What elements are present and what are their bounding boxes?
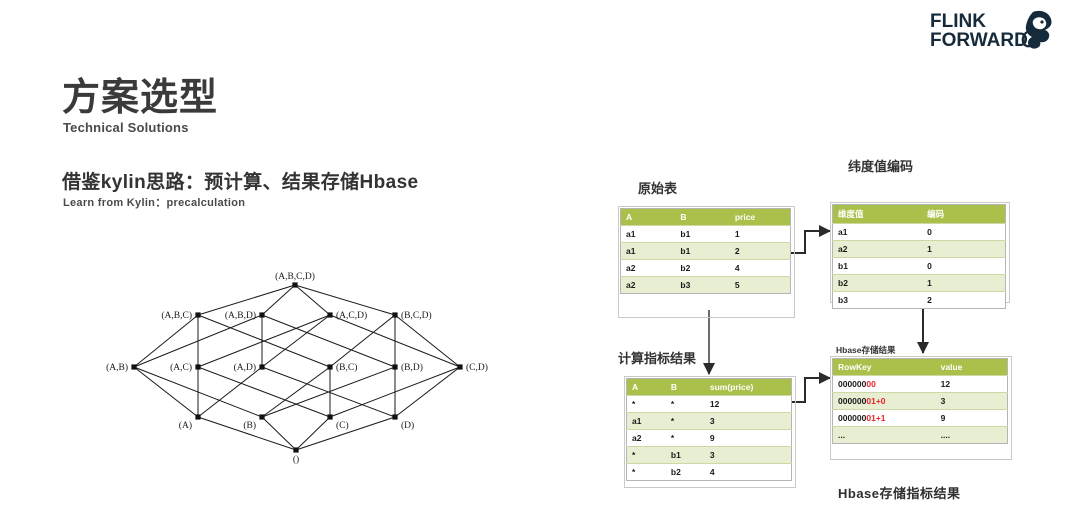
table-cell: 12 [936,376,1008,393]
table-row: 00000001+03 [833,393,1008,410]
logo-line1: FLINK [930,11,986,32]
section-title: 借鉴kylin思路：预计算、结果存储Hbase [62,167,419,194]
lattice-node [131,364,136,369]
table-row: a2b24 [621,260,791,277]
table-cell: a2 [621,277,676,294]
table-cell: 12 [705,396,792,413]
source-table-label: 原始表 [638,178,677,197]
table-row: a2*9 [627,430,792,447]
table-cell: a1 [621,226,676,243]
table-row: **12 [627,396,792,413]
column-header: B [666,379,705,396]
lattice-node-label: (C) [336,420,349,431]
flink-forward-logo: FLINK FORWARD [930,8,1062,54]
logo-line2: FORWARD [930,30,1028,51]
lattice-edge [330,315,395,367]
lattice-node-label: (A,B,C) [161,310,192,321]
table-cell: 4 [705,464,792,481]
section-subtitle: Learn from Kylin：precalculation [63,194,245,210]
table-cell: a1 [833,224,923,241]
lattice-node [259,364,264,369]
lattice-node [327,312,332,317]
column-header: sum(price) [705,379,792,396]
lattice-node [457,364,462,369]
table-cell: b2 [675,260,729,277]
table-cell: b2 [666,464,705,481]
lattice-node-label: (A,B) [106,362,128,373]
table-cell: b3 [833,292,923,309]
column-header: RowKey [833,359,936,376]
table-row: b32 [833,292,1006,309]
lattice-node [327,364,332,369]
lattice-node-label: (A,D) [234,362,256,373]
lattice-edge [198,367,330,417]
table-row: *b24 [627,464,792,481]
table-cell: a2 [833,241,923,258]
lattice-node [259,414,264,419]
lattice-node-label: (C,D) [466,362,488,373]
page-title: 方案选型 [62,66,218,121]
lattice-node [195,364,200,369]
column-header: price [730,209,791,226]
table-cell: ... [833,427,936,444]
lattice-node [195,414,200,419]
table-cell: a1 [627,413,666,430]
hbase-table-label: Hbase存储结果 [836,344,896,356]
table-row: a1*3 [627,413,792,430]
lattice-node-label: (B) [243,420,256,431]
table-cell: 1 [922,275,1005,292]
table-cell: 0 [922,258,1005,275]
lattice-edge [296,417,330,450]
table-cell: 2 [922,292,1005,309]
lattice-edge [395,367,460,417]
table-cell: 0 [922,224,1005,241]
lattice-edge [198,367,262,417]
hbase-table: RowKeyvalue000000001200000001+0300000001… [832,358,1008,444]
table-cell: 00000001+0 [833,393,936,410]
table-cell: 2 [730,243,791,260]
table-cell: b1 [675,226,729,243]
table-cell: * [666,396,705,413]
lattice-node [293,447,298,452]
lattice-node-label: (A,B,D) [225,310,256,321]
table-cell: * [666,430,705,447]
lattice-node [292,282,297,287]
table-cell: 5 [730,277,791,294]
column-header: A [627,379,666,396]
table-row: ....... [833,427,1008,444]
lattice-node [327,414,332,419]
lattice-node [392,364,397,369]
table-cell: b1 [675,243,729,260]
precalculation-flow-diagram: 原始表 ABpricea1b11a1b12a2b24a2b35 纬度值编码 维度… [600,148,1040,513]
table-row: 0000000012 [833,376,1008,393]
lattice-node-label: () [293,454,299,465]
cuboid-lattice-diagram: (A,B,C,D)(A,B,C)(A,B,D)(A,C,D)(B,C,D)(A,… [90,258,490,473]
lattice-edge [134,367,198,417]
table-cell: 1 [730,226,791,243]
lattice-node-label: (A) [179,420,192,431]
table-row: b10 [833,258,1006,275]
table-cell: 3 [705,413,792,430]
table-cell: * [666,413,705,430]
encoding-table-label: 纬度值编码 [848,156,913,175]
table-cell: 1 [922,241,1005,258]
column-header: value [936,359,1008,376]
table-cell: * [627,396,666,413]
table-cell: a2 [627,430,666,447]
table-cell: b1 [833,258,923,275]
lattice-edge [295,285,330,315]
lattice-edge [262,315,330,367]
table-row: b21 [833,275,1006,292]
table-row: a10 [833,224,1006,241]
table-cell: 9 [705,430,792,447]
lattice-node [392,414,397,419]
lattice-node [259,312,264,317]
lattice-node-label: (B,D) [401,362,423,373]
lattice-edge [395,315,460,367]
lattice-labels: (A,B,C,D)(A,B,C)(A,B,D)(A,C,D)(B,C,D)(A,… [106,271,488,465]
hbase-caption: Hbase存储指标结果 [838,483,961,502]
table-cell: 9 [936,410,1008,427]
rowkey-value: 00000001+0 [838,396,886,406]
table-row: *b13 [627,447,792,464]
table-cell: 3 [705,447,792,464]
table-cell: b2 [833,275,923,292]
table-cell: 00000000 [833,376,936,393]
table-cell: * [627,464,666,481]
lattice-edge [262,367,330,417]
column-header: B [675,209,729,226]
table-cell: * [627,447,666,464]
table-row: a21 [833,241,1006,258]
metrics-table-label: 计算指标结果 [618,348,696,367]
column-header: A [621,209,676,226]
lattice-node-label: (D) [401,420,414,431]
table-row: 00000001+19 [833,410,1008,427]
lattice-node-label: (A,C) [170,362,192,373]
lattice-svg: (A,B,C,D)(A,B,C)(A,B,D)(A,C,D)(B,C,D)(A,… [90,258,490,473]
lattice-edge [262,417,296,450]
rowkey-value: ... [838,430,845,440]
table-row: a1b11 [621,226,791,243]
lattice-node-label: (A,C,D) [336,310,367,321]
flink-forward-logo-svg: FLINK FORWARD [930,8,1062,54]
lattice-edge [134,315,198,367]
table-cell: b3 [675,277,729,294]
table-row: a1b12 [621,243,791,260]
table-cell: 00000001+1 [833,410,936,427]
lattice-node-label: (A,B,C,D) [275,271,315,282]
table-cell: a1 [621,243,676,260]
table-cell: a2 [621,260,676,277]
lattice-node [392,312,397,317]
lattice-edge [262,285,295,315]
table-row: a2b35 [621,277,791,294]
table-cell: 4 [730,260,791,277]
column-header: 编码 [922,205,1005,224]
column-header: 维度值 [833,205,923,224]
encoding-table: 维度值编码a10a21b10b21b32 [832,204,1006,309]
lattice-node [195,312,200,317]
table-cell: b1 [666,447,705,464]
metrics-table: ABsum(price)**12a1*3a2*9*b13*b24 [626,378,792,481]
table-cell: .... [936,427,1008,444]
table-cell: 3 [936,393,1008,410]
rowkey-value: 00000000 [838,379,876,389]
page-subtitle: Technical Solutions [63,120,189,135]
lattice-edge [262,315,395,367]
source-table: ABpricea1b11a1b12a2b24a2b35 [620,208,791,294]
rowkey-value: 00000001+1 [838,413,886,423]
lattice-node-label: (B,C,D) [401,310,432,321]
lattice-node-label: (B,C) [336,362,357,373]
